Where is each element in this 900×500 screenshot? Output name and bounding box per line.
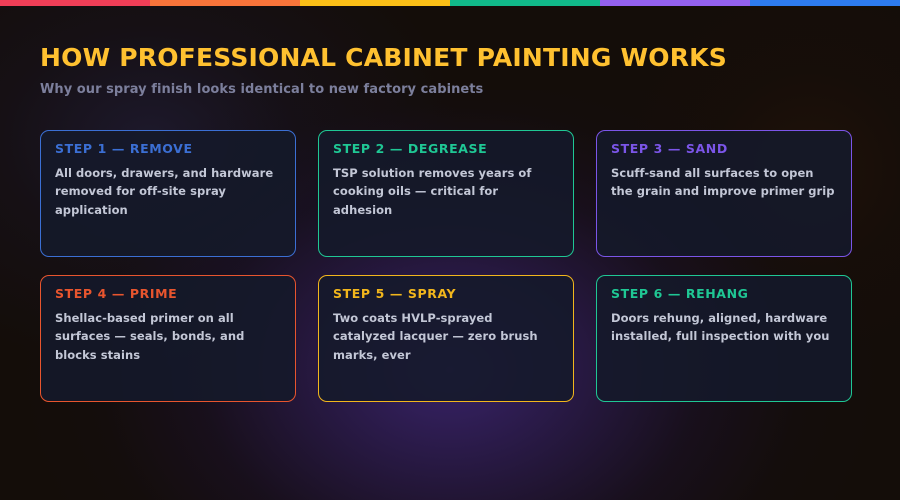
step-label-spray: STEP 5 — SPRAY — [333, 287, 559, 301]
step-card-degrease: STEP 2 — DEGREASE TSP solution removes y… — [318, 130, 574, 257]
step-label-sand: STEP 3 — SAND — [611, 142, 837, 156]
step-card-remove: STEP 1 — REMOVE All doors, drawers, and … — [40, 130, 296, 257]
step-card-prime: STEP 4 — PRIME Shellac-based primer on a… — [40, 275, 296, 402]
step-description-remove: All doors, drawers, and hardware removed… — [55, 164, 281, 220]
step-description-sand: Scuff-sand all surfaces to open the grai… — [611, 164, 837, 201]
accent-segment-amber — [300, 0, 450, 6]
step-label-degrease: STEP 2 — DEGREASE — [333, 142, 559, 156]
accent-segment-purple — [600, 0, 750, 6]
step-label-prime: STEP 4 — PRIME — [55, 287, 281, 301]
accent-segment-blue — [750, 0, 900, 6]
slide-canvas: HOW PROFESSIONAL CABINET PAINTING WORKS … — [0, 0, 900, 500]
step-description-prime: Shellac-based primer on all surfaces — s… — [55, 309, 281, 365]
step-description-rehang: Doors rehung, aligned, hardware installe… — [611, 309, 837, 346]
page-subtitle: Why our spray finish looks identical to … — [40, 82, 860, 98]
top-accent-bar — [0, 0, 900, 6]
accent-segment-red — [0, 0, 150, 6]
step-description-spray: Two coats HVLP-sprayed catalyzed lacquer… — [333, 309, 559, 365]
step-card-spray: STEP 5 — SPRAY Two coats HVLP-sprayed ca… — [318, 275, 574, 402]
accent-segment-teal — [450, 0, 600, 6]
steps-grid: STEP 1 — REMOVE All doors, drawers, and … — [40, 130, 852, 402]
step-card-rehang: STEP 6 — REHANG Doors rehung, aligned, h… — [596, 275, 852, 402]
accent-segment-orange — [150, 0, 300, 6]
step-label-remove: STEP 1 — REMOVE — [55, 142, 281, 156]
header-block: HOW PROFESSIONAL CABINET PAINTING WORKS … — [40, 44, 860, 97]
step-label-rehang: STEP 6 — REHANG — [611, 287, 837, 301]
step-card-sand: STEP 3 — SAND Scuff-sand all surfaces to… — [596, 130, 852, 257]
page-title: HOW PROFESSIONAL CABINET PAINTING WORKS — [40, 44, 860, 73]
step-description-degrease: TSP solution removes years of cooking oi… — [333, 164, 559, 220]
